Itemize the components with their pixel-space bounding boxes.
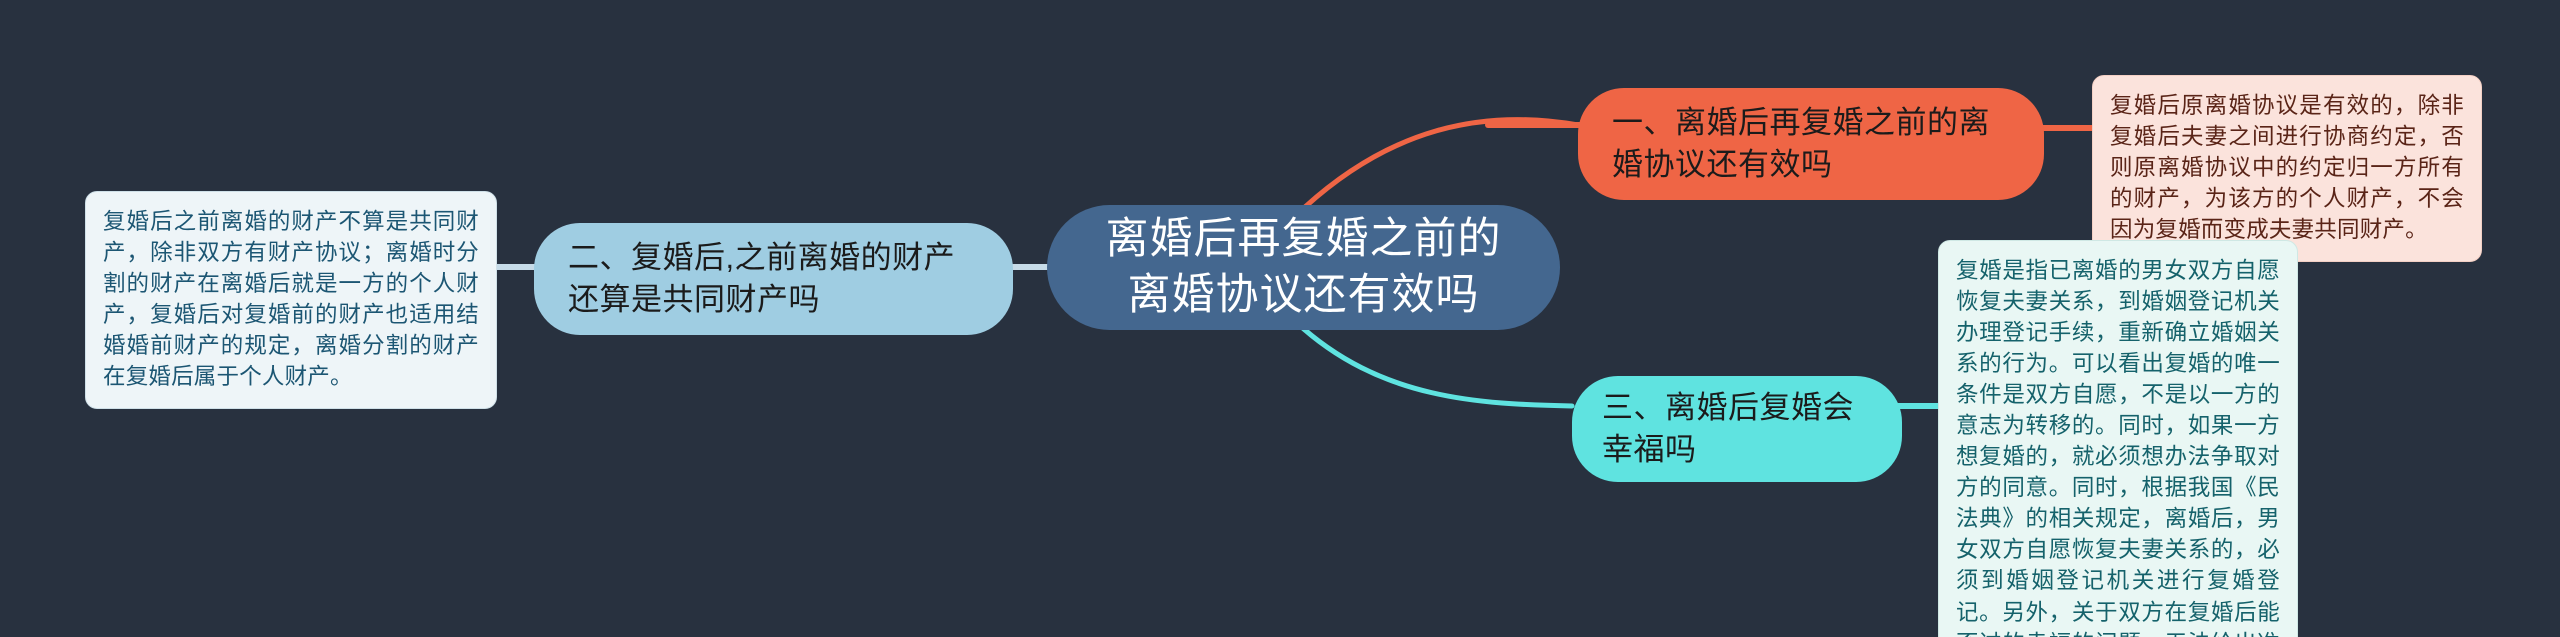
mindmap-canvas: 离婚后再复婚之前的离婚协议还有效吗 一、离婚后再复婚之前的离婚协议还有效吗 复婚… [0,0,2560,637]
edge-root-to-branch-1 [1305,120,1578,207]
mindmap-note-branch-2: 复婚后之前离婚的财产不算是共同财产，除非双方有财产协议；离婚时分割的财产在离婚后… [85,191,497,409]
edge-root-to-branch-3 [1296,322,1572,406]
mindmap-note-branch-3: 复婚是指已离婚的男女双方自愿恢复夫妻关系，到婚姻登记机关办理登记手续，重新确立婚… [1938,240,2298,637]
mindmap-node-branch-3[interactable]: 三、离婚后复婚会幸福吗 [1572,376,1902,482]
mindmap-note-branch-1: 复婚后原离婚协议是有效的，除非复婚后夫妻之间进行协商约定，否则原离婚协议中的约定… [2092,75,2482,262]
mindmap-node-branch-1[interactable]: 一、离婚后再复婚之前的离婚协议还有效吗 [1578,88,2044,200]
mindmap-node-branch-2[interactable]: 二、复婚后,之前离婚的财产还算是共同财产吗 [534,223,1013,335]
mindmap-root-node[interactable]: 离婚后再复婚之前的离婚协议还有效吗 [1047,205,1560,330]
